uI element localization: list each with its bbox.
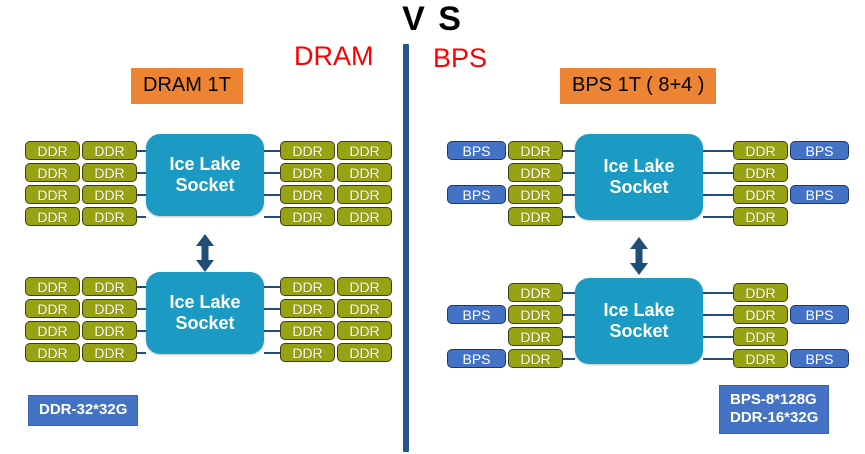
- connector-line: [137, 308, 146, 310]
- connector-line: [264, 216, 280, 218]
- page-title: V S: [0, 2, 865, 36]
- module-label: DDR: [520, 188, 550, 202]
- module-label: DDR: [349, 280, 379, 294]
- ddr-module: DDR: [733, 163, 788, 182]
- module-label: DDR: [349, 144, 379, 158]
- left-capacity-tag: DDR-32*32G: [28, 395, 138, 426]
- left-link-arrow: [194, 234, 216, 272]
- ddr-module: DDR: [733, 283, 788, 302]
- bps-socket-top: Ice Lake Socket: [575, 134, 703, 220]
- ddr-module: DDR: [82, 141, 137, 160]
- socket-label: Ice Lake Socket: [169, 292, 240, 334]
- ddr-module: DDR: [508, 141, 563, 160]
- module-label: DDR: [520, 210, 550, 224]
- module-label: BPS: [805, 308, 833, 322]
- module-label: BPS: [805, 144, 833, 158]
- module-label: DDR: [349, 210, 379, 224]
- connector-line: [264, 172, 280, 174]
- bps-module: BPS: [790, 349, 849, 368]
- module-label: DDR: [745, 352, 775, 366]
- ddr-module: DDR: [508, 283, 563, 302]
- ddr-module: DDR: [733, 185, 788, 204]
- module-label: DDR: [745, 286, 775, 300]
- ddr-module: DDR: [337, 299, 392, 318]
- socket-label: Ice Lake Socket: [603, 156, 674, 198]
- module-label: DDR: [745, 330, 775, 344]
- connector-line: [563, 216, 575, 218]
- ddr-module: DDR: [508, 163, 563, 182]
- module-label: DDR: [37, 324, 67, 338]
- module-label: DDR: [292, 166, 322, 180]
- ddr-module: DDR: [508, 327, 563, 346]
- ddr-module: DDR: [337, 141, 392, 160]
- ddr-module: DDR: [733, 207, 788, 226]
- ddr-module: DDR: [25, 277, 80, 296]
- connector-line: [563, 150, 575, 152]
- ddr-module: DDR: [82, 299, 137, 318]
- module-label: DDR: [94, 280, 124, 294]
- connector-line: [137, 172, 146, 174]
- connector-line: [563, 292, 575, 294]
- ddr-module: DDR: [280, 207, 335, 226]
- ddr-module: DDR: [280, 141, 335, 160]
- connector-line: [137, 286, 146, 288]
- module-label: DDR: [292, 280, 322, 294]
- ddr-module: DDR: [337, 343, 392, 362]
- module-label: DDR: [292, 210, 322, 224]
- ddr-module: DDR: [25, 163, 80, 182]
- module-label: DDR: [94, 346, 124, 360]
- ddr-module: DDR: [733, 327, 788, 346]
- module-label: DDR: [37, 166, 67, 180]
- ddr-module: DDR: [280, 185, 335, 204]
- connector-line: [563, 172, 575, 174]
- module-label: DDR: [37, 210, 67, 224]
- module-label: DDR: [94, 302, 124, 316]
- connector-line: [563, 336, 575, 338]
- ddr-module: DDR: [82, 185, 137, 204]
- bps-module: BPS: [447, 141, 506, 160]
- left-config-badge: DRAM 1T: [131, 68, 243, 104]
- bps-module: BPS: [447, 185, 506, 204]
- connector-line: [703, 216, 733, 218]
- module-label: DDR: [520, 286, 550, 300]
- module-label: BPS: [462, 144, 490, 158]
- bps-module: BPS: [790, 305, 849, 324]
- ddr-module: DDR: [733, 305, 788, 324]
- bps-module: BPS: [790, 185, 849, 204]
- module-label: DDR: [349, 166, 379, 180]
- ddr-module: DDR: [82, 207, 137, 226]
- connector-line: [703, 336, 733, 338]
- ddr-module: DDR: [280, 163, 335, 182]
- module-label: DDR: [292, 144, 322, 158]
- right-config-badge: BPS 1T ( 8+4 ): [560, 68, 716, 104]
- module-label: DDR: [292, 324, 322, 338]
- ddr-module: DDR: [25, 343, 80, 362]
- connector-line: [137, 330, 146, 332]
- ddr-module: DDR: [508, 185, 563, 204]
- module-label: DDR: [94, 210, 124, 224]
- module-label: DDR: [94, 324, 124, 338]
- dram-socket-bottom: Ice Lake Socket: [146, 272, 264, 354]
- right-side-label: BPS: [433, 45, 487, 72]
- module-label: DDR: [520, 308, 550, 322]
- module-label: DDR: [292, 188, 322, 202]
- module-label: BPS: [805, 188, 833, 202]
- bps-module: BPS: [447, 305, 506, 324]
- module-label: BPS: [462, 188, 490, 202]
- module-label: DDR: [94, 166, 124, 180]
- connector-line: [264, 286, 280, 288]
- socket-label: Ice Lake Socket: [603, 300, 674, 342]
- ddr-module: DDR: [280, 299, 335, 318]
- module-label: DDR: [745, 188, 775, 202]
- ddr-module: DDR: [25, 321, 80, 340]
- module-label: DDR: [292, 346, 322, 360]
- module-label: DDR: [520, 352, 550, 366]
- module-label: DDR: [37, 144, 67, 158]
- ddr-module: DDR: [280, 343, 335, 362]
- ddr-module: DDR: [337, 321, 392, 340]
- ddr-module: DDR: [508, 305, 563, 324]
- connector-line: [703, 358, 733, 360]
- module-label: DDR: [349, 324, 379, 338]
- connector-line: [703, 194, 733, 196]
- bps-socket-bottom: Ice Lake Socket: [575, 278, 703, 364]
- ddr-module: DDR: [25, 207, 80, 226]
- bps-module: BPS: [447, 349, 506, 368]
- module-label: DDR: [94, 188, 124, 202]
- connector-line: [703, 150, 733, 152]
- ddr-module: DDR: [25, 185, 80, 204]
- module-label: DDR: [37, 280, 67, 294]
- module-label: DDR: [745, 166, 775, 180]
- socket-label: Ice Lake Socket: [169, 154, 240, 196]
- vertical-divider: [403, 44, 409, 452]
- connector-line: [264, 330, 280, 332]
- ddr-module: DDR: [25, 141, 80, 160]
- connector-line: [703, 292, 733, 294]
- module-label: DDR: [520, 166, 550, 180]
- module-label: BPS: [805, 352, 833, 366]
- ddr-module: DDR: [508, 349, 563, 368]
- module-label: DDR: [349, 188, 379, 202]
- ddr-module: DDR: [733, 349, 788, 368]
- module-label: DDR: [37, 188, 67, 202]
- module-label: DDR: [349, 346, 379, 360]
- ddr-module: DDR: [280, 277, 335, 296]
- ddr-module: DDR: [337, 163, 392, 182]
- connector-line: [137, 216, 146, 218]
- connector-line: [137, 194, 146, 196]
- ddr-module: DDR: [82, 277, 137, 296]
- connector-line: [563, 358, 575, 360]
- ddr-module: DDR: [82, 343, 137, 362]
- bps-module: BPS: [790, 141, 849, 160]
- module-label: DDR: [745, 210, 775, 224]
- module-label: BPS: [462, 308, 490, 322]
- dram-socket-top: Ice Lake Socket: [146, 134, 264, 216]
- ddr-module: DDR: [82, 321, 137, 340]
- right-capacity-tag: BPS-8*128G DDR-16*32G: [719, 385, 829, 434]
- connector-line: [264, 194, 280, 196]
- connector-line: [563, 194, 575, 196]
- ddr-module: DDR: [337, 207, 392, 226]
- diagram-canvas: V S DRAM BPS DRAM 1T BPS 1T ( 8+4 ) DDR-…: [0, 0, 865, 454]
- module-label: DDR: [292, 302, 322, 316]
- connector-line: [137, 352, 146, 354]
- ddr-module: DDR: [733, 141, 788, 160]
- connector-line: [703, 172, 733, 174]
- ddr-module: DDR: [82, 163, 137, 182]
- module-label: DDR: [37, 302, 67, 316]
- module-label: DDR: [745, 144, 775, 158]
- ddr-module: DDR: [508, 207, 563, 226]
- connector-line: [137, 150, 146, 152]
- ddr-module: DDR: [337, 277, 392, 296]
- module-label: DDR: [37, 346, 67, 360]
- connector-line: [703, 314, 733, 316]
- module-label: DDR: [520, 330, 550, 344]
- ddr-module: DDR: [280, 321, 335, 340]
- left-side-label: DRAM: [294, 43, 374, 70]
- connector-line: [563, 314, 575, 316]
- connector-line: [264, 150, 280, 152]
- module-label: DDR: [349, 302, 379, 316]
- connector-line: [264, 352, 280, 354]
- ddr-module: DDR: [337, 185, 392, 204]
- right-link-arrow: [628, 237, 650, 275]
- module-label: DDR: [94, 144, 124, 158]
- module-label: BPS: [462, 352, 490, 366]
- module-label: DDR: [745, 308, 775, 322]
- connector-line: [264, 308, 280, 310]
- module-label: DDR: [520, 144, 550, 158]
- ddr-module: DDR: [25, 299, 80, 318]
